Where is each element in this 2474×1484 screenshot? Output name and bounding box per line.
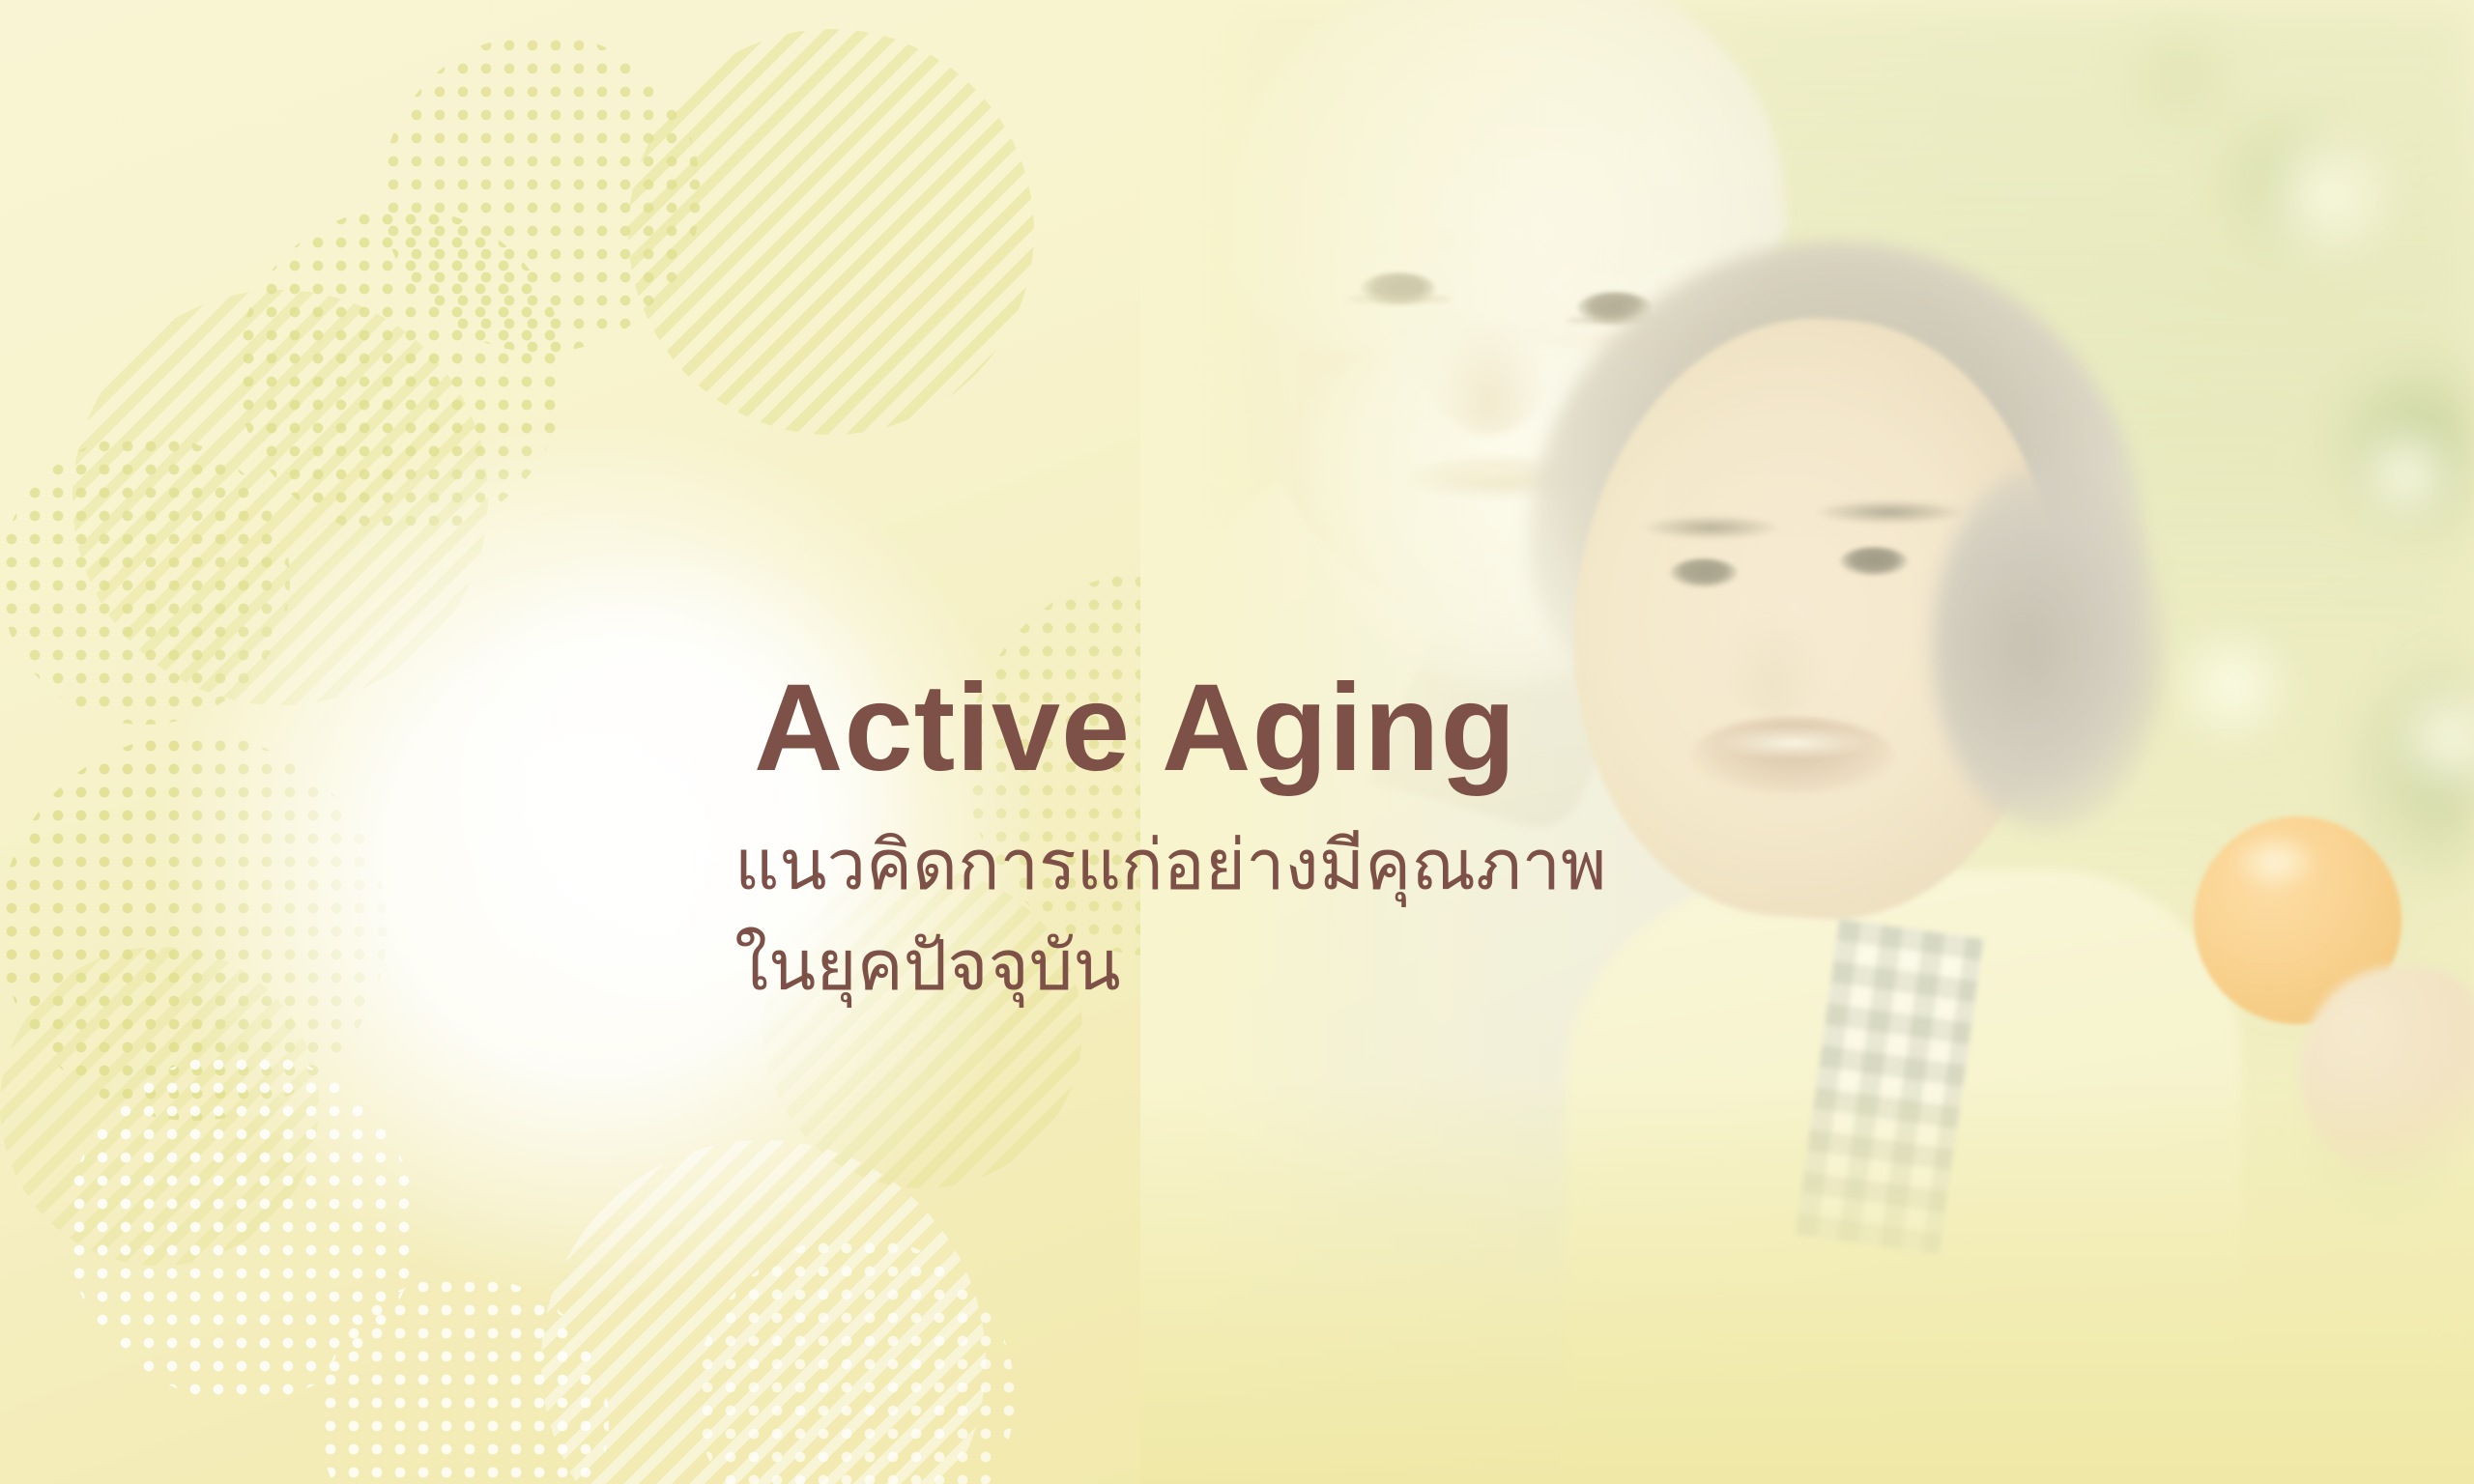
active-aging-banner: Active Aging แนวคิดการแก่อย่างมีคุณภาพ ใ… bbox=[0, 0, 2474, 1484]
page-title: Active Aging bbox=[754, 667, 1875, 790]
subtitle-line-1: แนวคิดการแก่อย่างมีคุณภาพ bbox=[734, 815, 1875, 914]
photo-bottom-fade bbox=[1140, 1078, 2474, 1484]
headline-block: Active Aging แนวคิดการแก่อย่างมีคุณภาพ ใ… bbox=[734, 667, 1875, 1016]
subtitle-line-2: ในยุคปัจจุบัน bbox=[734, 916, 1875, 1014]
